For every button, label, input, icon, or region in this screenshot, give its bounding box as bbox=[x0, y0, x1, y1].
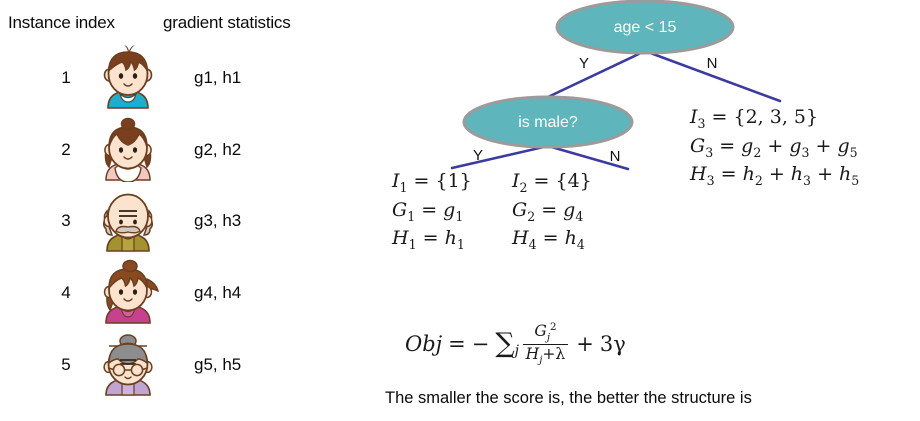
leaf-1-h-subscript: 1 bbox=[457, 237, 465, 252]
leaf-2-I-symbol: I bbox=[512, 170, 520, 192]
objective-fraction: Gj2 Hj+λ bbox=[523, 322, 569, 366]
gradient-statistics-value: g3, h3 bbox=[194, 211, 241, 231]
leaf-3-G-symbol: G bbox=[690, 135, 705, 157]
leaf-2-I-value: {4} bbox=[556, 170, 592, 192]
objective-function-equation: Obj = − ∑j Gj2 Hj+λ + 3γ bbox=[405, 322, 626, 366]
leaf-3-hessian-sum: H3 = h2 + h3 + h5 bbox=[690, 161, 859, 190]
leaf-2-G-symbol: G bbox=[512, 199, 527, 221]
instance-index-value: 3 bbox=[55, 211, 77, 231]
leaf-2-H-subscript: 4 bbox=[529, 237, 537, 252]
leaf-2-instance-set: I2 = {4} bbox=[512, 168, 592, 197]
leaf-3-I-subscript: 3 bbox=[698, 116, 706, 131]
objective-lhs: Obj bbox=[405, 332, 442, 356]
leaf-1-statistics: I1 = {1} G1 = g1 H1 = h1 bbox=[392, 168, 472, 254]
edge-label-split-no: N bbox=[610, 148, 621, 165]
young-woman-avatar bbox=[95, 257, 161, 325]
edge-label-root-no: N bbox=[707, 55, 718, 72]
leaf-1-I-subscript: 1 bbox=[400, 180, 408, 195]
leaf-1-G-symbol: G bbox=[392, 199, 407, 221]
leaf-2-hessian-sum: H4 = h4 bbox=[512, 225, 592, 254]
leaf-1-I-value: {1} bbox=[436, 170, 472, 192]
instance-index-value: 2 bbox=[55, 140, 77, 160]
instance-index-value: 4 bbox=[55, 283, 77, 303]
leaf-1-H-subscript: 1 bbox=[409, 237, 417, 252]
leaf-2-h-term: h bbox=[565, 227, 577, 249]
leaf-3-H-symbol: H bbox=[690, 163, 707, 185]
objective-minus: − bbox=[472, 332, 490, 356]
instance-row: 5 g5, h5 bbox=[0, 329, 360, 401]
edge-label-split-yes: Y bbox=[473, 147, 483, 164]
leaf-2-I-subscript: 2 bbox=[520, 180, 528, 195]
girl-avatar bbox=[95, 114, 161, 182]
leaf-3-h-terms: h2 + h3 + h5 bbox=[743, 163, 860, 185]
leaf-2-statistics: I2 = {4} G2 = g4 H4 = h4 bbox=[512, 168, 592, 254]
leaf-1-g-subscript: 1 bbox=[455, 208, 463, 223]
column-header-gradient-statistics: gradient statistics bbox=[163, 13, 291, 33]
instance-table-panel: Instance index gradient statistics 1 g1,… bbox=[0, 0, 360, 421]
leaf-3-instance-set: I3 = {2, 3, 5} bbox=[690, 104, 859, 133]
leaf-3-I-value: {2, 3, 5} bbox=[734, 106, 819, 128]
leaf-1-h-term: h bbox=[445, 227, 457, 249]
instance-row: 1 g1, h1 bbox=[0, 42, 360, 114]
instance-row: 3 g3, h3 bbox=[0, 185, 360, 257]
column-header-instance-index: Instance index bbox=[8, 13, 115, 33]
leaf-3-g-terms: g2 + g3 + g5 bbox=[741, 135, 857, 157]
leaf-3-I-symbol: I bbox=[690, 106, 698, 128]
old-man-avatar bbox=[95, 185, 161, 253]
gradient-statistics-value: g4, h4 bbox=[194, 283, 241, 303]
instance-index-value: 5 bbox=[55, 355, 77, 375]
objective-equals: = bbox=[448, 332, 466, 356]
objective-tail: 3γ bbox=[600, 332, 626, 356]
leaf-2-G-subscript: 2 bbox=[527, 208, 535, 223]
instance-row: 2 g2, h2 bbox=[0, 114, 360, 186]
summation-icon: ∑j bbox=[495, 333, 514, 355]
summation-subscript: j bbox=[515, 346, 519, 357]
leaf-1-hessian-sum: H1 = h1 bbox=[392, 225, 472, 254]
edge-label-root-yes: Y bbox=[579, 55, 589, 72]
leaf-2-g-term: g bbox=[563, 199, 575, 221]
instance-index-value: 1 bbox=[55, 68, 77, 88]
objective-denominator: Hj+λ bbox=[523, 344, 569, 366]
leaf-1-instance-set: I1 = {1} bbox=[392, 168, 472, 197]
tree-edge-root-yes bbox=[548, 51, 645, 97]
leaf-2-h-subscript: 4 bbox=[577, 237, 585, 252]
leaf-2-g-subscript: 4 bbox=[575, 208, 583, 223]
gradient-statistics-value: g1, h1 bbox=[194, 68, 241, 88]
objective-plus: + bbox=[576, 332, 594, 356]
leaf-3-G-subscript: 3 bbox=[705, 144, 713, 159]
figure-caption: The smaller the score is, the better the… bbox=[385, 389, 752, 408]
leaf-1-G-subscript: 1 bbox=[407, 208, 415, 223]
leaf-3-statistics: I3 = {2, 3, 5} G3 = g2 + g3 + g5 H3 = h2… bbox=[690, 104, 859, 190]
objective-numerator: Gj2 bbox=[531, 322, 559, 344]
leaf-1-H-symbol: H bbox=[392, 227, 409, 249]
instance-row: 4 g4, h4 bbox=[0, 257, 360, 329]
gradient-statistics-value: g2, h2 bbox=[194, 140, 241, 160]
tree-node-is-male-label: is male? bbox=[518, 114, 578, 131]
gradient-statistics-value: g5, h5 bbox=[194, 355, 241, 375]
leaf-1-g-term: g bbox=[443, 199, 455, 221]
leaf-2-H-symbol: H bbox=[512, 227, 529, 249]
old-woman-avatar bbox=[95, 329, 161, 397]
boy-avatar bbox=[95, 42, 161, 110]
tree-edge-split-yes bbox=[452, 146, 548, 168]
leaf-2-gradient-sum: G2 = g4 bbox=[512, 197, 592, 226]
tree-node-root-label: age < 15 bbox=[614, 19, 677, 36]
leaf-1-gradient-sum: G1 = g1 bbox=[392, 197, 472, 226]
leaf-3-gradient-sum: G3 = g2 + g3 + g5 bbox=[690, 133, 859, 162]
leaf-3-H-subscript: 3 bbox=[707, 173, 715, 188]
leaf-1-I-symbol: I bbox=[392, 170, 400, 192]
decision-tree-panel: age < 15 is male? Y N Y N I1 = {1} G1 = … bbox=[360, 0, 920, 421]
